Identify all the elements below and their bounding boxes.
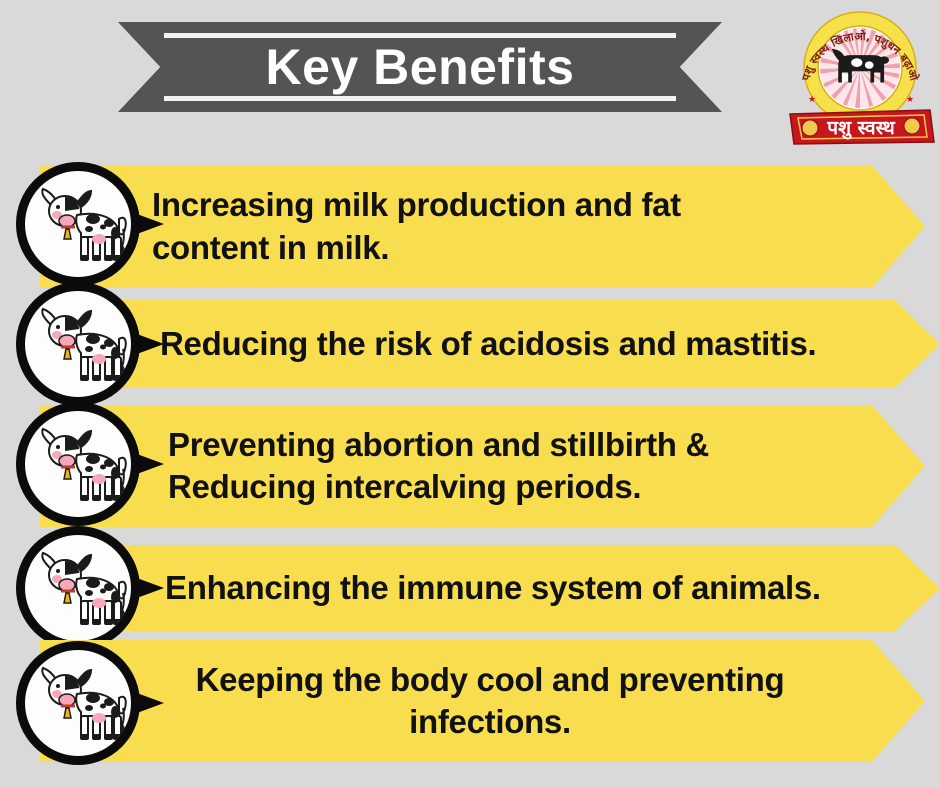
- benefit-badge: [16, 402, 140, 526]
- benefit-text-line: Increasing milk production and fat: [152, 184, 681, 226]
- benefit-badge: [16, 641, 140, 765]
- benefit-text-line: content in milk.: [152, 227, 681, 269]
- benefit-badge: [16, 162, 140, 286]
- logo-star-right: ★: [906, 94, 914, 104]
- benefit-text-line: Preventing abortion and stillbirth &: [168, 424, 709, 466]
- brand-logo: पशु स्वस्थ खिलाओ, पशुधन बढ़ाओ ★ ★: [784, 6, 936, 148]
- benefit-row: Increasing milk production and fat conte…: [0, 165, 940, 288]
- logo-ribbon-text: पशु स्वस्थ: [826, 117, 895, 140]
- cow-icon: [25, 171, 131, 277]
- infographic-poster: Key Benefits: [0, 0, 940, 788]
- benefit-text-line: Keeping the body cool and preventing: [140, 659, 840, 701]
- benefit-text: Enhancing the immune system of animals.: [165, 545, 821, 631]
- badge-disc: [16, 641, 140, 765]
- benefit-text: Increasing milk production and fat conte…: [152, 165, 681, 288]
- benefit-row: Enhancing the immune system of animals.: [0, 545, 940, 631]
- benefit-text-line: infections.: [140, 701, 840, 743]
- logo-ribbon: पशु स्वस्थ: [790, 110, 934, 144]
- logo-star-left: ★: [808, 94, 816, 104]
- benefit-text: Reducing the risk of acidosis and mastit…: [160, 300, 816, 388]
- cow-icon: [25, 650, 131, 756]
- benefit-row: Reducing the risk of acidosis and mastit…: [0, 300, 940, 388]
- title-ribbon: Key Benefits: [118, 22, 722, 112]
- badge-disc: [16, 282, 140, 406]
- cow-icon: [25, 535, 131, 641]
- benefit-row: Keeping the body cool and preventing inf…: [0, 640, 940, 762]
- benefit-text: Keeping the body cool and preventing inf…: [140, 640, 840, 762]
- benefit-text-line: Reducing the risk of acidosis and mastit…: [160, 323, 816, 365]
- badge-disc: [16, 402, 140, 526]
- benefit-row: Preventing abortion and stillbirth & Red…: [0, 405, 940, 527]
- benefit-text-line: Enhancing the immune system of animals.: [165, 567, 821, 609]
- cow-icon: [25, 291, 131, 397]
- benefit-badge: [16, 526, 140, 650]
- benefit-text-line: Reducing intercalving periods.: [168, 466, 709, 508]
- benefit-text: Preventing abortion and stillbirth & Red…: [168, 405, 709, 527]
- badge-disc: [16, 526, 140, 650]
- cow-icon: [25, 411, 131, 517]
- logo-emblem-icon: पशु स्वस्थ खिलाओ, पशुधन बढ़ाओ ★ ★: [784, 6, 936, 148]
- badge-disc: [16, 162, 140, 286]
- page-title: Key Benefits: [118, 22, 722, 112]
- benefit-badge: [16, 282, 140, 406]
